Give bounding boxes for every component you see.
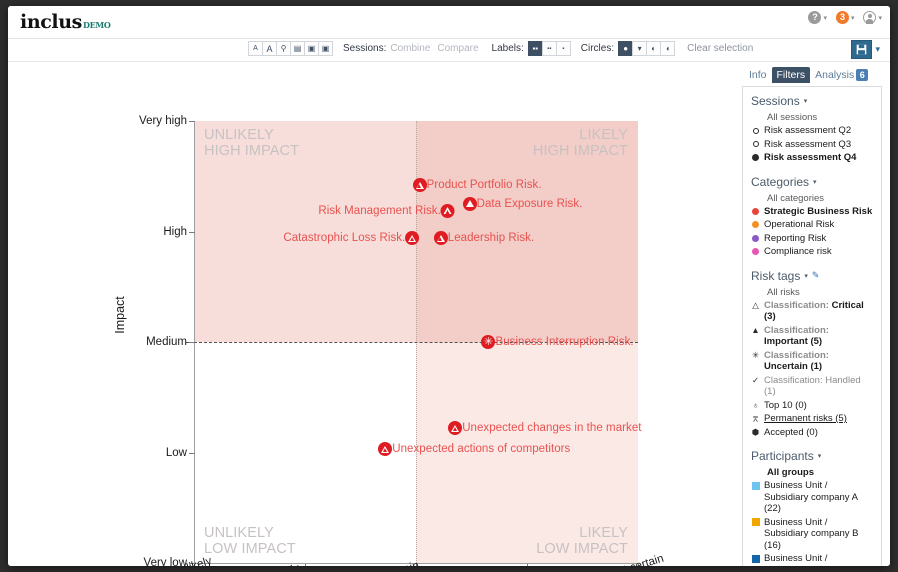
categories-section-header[interactable]: Categories ▾ [751,175,873,189]
sidebar-item-category[interactable]: Reporting Risk [751,233,873,245]
categories-title: Categories [751,175,809,189]
critical-marker-icon [378,442,392,456]
sidebar-item-session[interactable]: Risk assessment Q2 [751,125,873,137]
sidebar-item-risk-tag[interactable]: ✳Classification: Uncertain (1) [751,350,873,373]
radio-selected-icon [752,154,759,161]
plot-area[interactable]: UNLIKELY HIGH IMPACT LIKELY HIGH IMPACT … [194,121,638,563]
sidebar-item-risk-tag-label: Classification: Critical (3) [764,300,873,323]
critical-marker-icon [413,178,427,192]
sidebar-item-session[interactable]: Risk assessment Q4 [751,152,873,164]
sidebar-item-participant-label: Business Unit / Subsidiary company C (13… [764,553,873,566]
risk-point-label: Product Portfolio Risk. [427,179,542,191]
y-tick-label: Low [166,447,187,459]
sidebar-item-participant[interactable]: Business Unit / Subsidiary company B (16… [751,517,873,552]
x-tick-label: Unlikely [259,562,301,566]
app-header: inclus DEMO ? ▾ 3 ▾ ▾ [8,6,890,39]
screenshot-root: inclus DEMO ? ▾ 3 ▾ ▾ A A ⚲ ▤ ▣ ▣ [0,0,898,572]
all-categories-option[interactable]: All categories [767,193,873,204]
save-controls: ▾ [851,40,880,59]
labels-label: Labels: [492,43,524,54]
sidebar-item-risk-tag-label: Classification: Handled (1) [764,375,873,398]
star-glyph: ✳ [484,336,493,347]
chevron-down-icon: ▾ [823,14,827,22]
triangle-outline-glyph [437,235,445,242]
x-tick-label: Likely [481,565,513,566]
sidebar-item-session-label: Risk assessment Q3 [764,139,873,151]
chevron-down-icon: ▾ [804,97,808,105]
combine-button[interactable]: Combine [390,43,430,54]
sidebar-item-risk-tag-label: Classification: Important (5) [764,325,873,348]
save-chevron-down-icon[interactable]: ▾ [875,44,880,55]
sidebar-item-risk-tag[interactable]: ▲Classification: Important (5) [751,325,873,348]
risk-tag-glyph-icon: ✳ [752,351,759,360]
pencil-icon[interactable]: ✎ [812,270,820,281]
risk-point-label: Business Interruption Risk. [495,336,633,348]
header-actions: ? ▾ 3 ▾ ▾ [808,11,882,24]
participant-color-square-icon [752,482,760,490]
y-tick-label: Medium [146,336,187,348]
triangle-outline-glyph [416,182,424,189]
x-tick-mark [527,564,528,566]
radio-unselected-icon [753,141,759,147]
y-tick-label: Very high [139,115,187,127]
all-risks-option[interactable]: All risks [767,287,873,298]
chevron-down-icon: ▾ [804,272,808,280]
sidebar-item-category[interactable]: Operational Risk [751,219,873,231]
sidebar-item-category-label: Reporting Risk [764,233,873,245]
all-groups-option[interactable]: All groups [767,467,873,478]
triangle-outline-glyph [444,207,452,214]
risk-point-label: Data Exposure Risk. [477,198,583,210]
risk-tag-glyph-icon: ♁ [752,401,758,410]
sessions-section-header[interactable]: Sessions ▾ [751,94,873,108]
y-tick-mark [189,232,195,233]
participants-section-header[interactable]: Participants ▾ [751,449,873,463]
filters-panel: Sessions ▾ All sessions Risk assessment … [742,86,882,566]
font-increase-icon[interactable]: A [262,41,277,56]
participant-color-square-icon [752,555,760,563]
label-short-icon[interactable]: ▪▪ [542,41,557,56]
risk-point-label: Risk Management Risk. [318,205,440,217]
sidebar-item-risk-tag-label: Top 10 (0) [764,400,873,412]
sidebar-item-participant-label: Business Unit / Subsidiary company A (22… [764,480,873,515]
tab-analysis[interactable]: Analysis6 [810,67,873,83]
app-window: inclus DEMO ? ▾ 3 ▾ ▾ A A ⚲ ▤ ▣ ▣ [8,6,890,566]
sidebar-item-risk-tag-label: Accepted (0) [764,427,873,439]
y-tick-label: High [163,226,187,238]
risk-point-label: Leadership Risk. [448,232,534,244]
chart-bars-icon[interactable]: ▤ [290,41,305,56]
risk-point-label: Catastrophic Loss Risk. [283,232,405,244]
quadrant-label-likely-low-impact: LIKELY LOW IMPACT [536,526,628,557]
risk-point[interactable]: Risk Management Risk. [318,204,454,218]
y-axis-title: Impact [113,296,127,334]
save-disk-icon[interactable] [851,40,872,59]
sidebar-item-participant-label: Business Unit / Subsidiary company B (16… [764,517,873,552]
participants-list: Business Unit / Subsidiary company A (22… [751,480,873,566]
sidebar-item-risk-tag[interactable]: ⩞Permanent risks (5) [751,413,873,425]
sidebar-item-participant[interactable]: Business Unit / Subsidiary company A (22… [751,480,873,515]
chevron-down-icon: ▾ [851,14,855,22]
quadrant-label-likely-high-impact: LIKELY HIGH IMPACT [533,128,628,159]
chart-toolbar: A A ⚲ ▤ ▣ ▣ Sessions: Combine Compare La… [8,39,890,62]
risk-point[interactable]: ✳Business Interruption Risk. [481,335,633,349]
important-marker-icon [463,197,477,211]
help-menu[interactable]: ? ▾ [808,11,827,24]
sidebar-item-session[interactable]: Risk assessment Q3 [751,139,873,151]
document-icon[interactable]: ▣ [304,41,319,56]
sidebar-tabs: Info Filters Analysis6 [742,66,882,83]
triangle-outline-glyph [381,446,389,453]
sessions-label: Sessions: [343,43,386,54]
sessions-list: Risk assessment Q2Risk assessment Q3Risk… [751,125,873,164]
category-color-dot-icon [752,221,759,228]
category-color-dot-icon [752,208,759,215]
critical-marker-icon [441,204,455,218]
y-tick-mark [189,453,195,454]
logo-demo-tag: DEMO [83,20,111,30]
uncertain-marker-icon: ✳ [481,335,495,349]
sidebar-item-risk-tag[interactable]: ♁Top 10 (0) [751,400,873,412]
notification-badge: 3 [836,11,849,24]
tab-info-label: Info [749,69,767,81]
tab-filters[interactable]: Filters [772,67,811,83]
circle-mode-2-icon[interactable]: ▾ [632,41,647,56]
risk-point[interactable]: Data Exposure Risk. [463,197,583,211]
tab-filters-label: Filters [777,69,806,81]
app-body: UNLIKELY HIGH IMPACT LIKELY HIGH IMPACT … [8,62,890,566]
question-circle-icon: ? [808,11,821,24]
sidebar-item-participant[interactable]: Business Unit / Subsidiary company C (13… [751,553,873,566]
chevron-down-icon: ▾ [813,178,817,186]
sidebar-item-category-label: Compliance risk [764,246,873,258]
risk-tags-title: Risk tags [751,269,800,283]
risk-tag-glyph-icon: ✓ [752,376,759,385]
chevron-down-icon: ▾ [818,452,822,460]
sessions-title: Sessions [751,94,800,108]
risk-tag-glyph-icon: △ [752,301,759,310]
category-color-dot-icon [752,235,759,242]
critical-marker-icon [434,231,448,245]
clear-selection-button[interactable]: Clear selection [687,43,753,54]
logo-text: inclus [20,11,82,33]
compare-button[interactable]: Compare [437,43,478,54]
risk-point[interactable]: Product Portfolio Risk. [413,178,542,192]
font-decrease-icon[interactable]: A [248,41,263,56]
risk-point[interactable]: Unexpected actions of competitors [378,442,570,456]
x-tick-mark [305,564,306,566]
triangle-outline-glyph [408,235,416,242]
triangle-outline-glyph [451,425,459,432]
y-axis: Very lowLowMediumHighVery high [194,121,195,563]
circle-mode-3-icon[interactable]: ◐ [646,41,661,56]
label-full-icon[interactable]: ▪▪ [528,41,543,56]
risk-tag-glyph-icon: ⬢ [752,428,759,437]
report-icon[interactable]: ▣ [318,41,333,56]
tab-info[interactable]: Info [744,67,772,83]
radio-unselected-icon [753,128,759,134]
sidebar-item-risk-tag[interactable]: ⬢Accepted (0) [751,427,873,439]
toolbar-controls: A A ⚲ ▤ ▣ ▣ Sessions: Combine Compare La… [248,41,753,56]
all-sessions-option[interactable]: All sessions [767,112,873,123]
y-tick-mark [189,342,195,343]
quadrant-label-unlikely-high-impact: UNLIKELY HIGH IMPACT [204,128,299,159]
sidebar-item-risk-tag[interactable]: △Classification: Critical (3) [751,300,873,323]
sidebar-item-session-label: Risk assessment Q4 [764,152,873,164]
risk-matrix-chart: UNLIKELY HIGH IMPACT LIKELY HIGH IMPACT … [8,62,724,566]
notifications-menu[interactable]: 3 ▾ [836,11,855,24]
risk-tags-section-header[interactable]: Risk tags ▾ ✎ [751,269,873,283]
y-tick-mark [189,121,195,122]
risk-point[interactable]: Catastrophic Loss Risk. [283,231,419,245]
risk-point-label: Unexpected changes in the market [462,422,641,434]
analysis-badge: 6 [856,69,868,81]
brand-logo[interactable]: inclus DEMO [20,11,111,33]
sidebar-item-category-label: Strategic Business Risk [764,206,873,218]
filters-sidebar: Info Filters Analysis6 Sessions ▾ All se… [742,66,882,566]
participants-title: Participants [751,449,814,463]
sidebar-item-risk-tag-label: Classification: Uncertain (1) [764,350,873,373]
sidebar-item-risk-tag-label: Permanent risks (5) [764,413,873,425]
category-color-dot-icon [752,248,759,255]
risk-point[interactable]: Unexpected changes in the market [448,421,641,435]
x-axis: Very unlikelyUnlikelyUncertainLikelyAlmo… [194,563,638,564]
sidebar-item-category[interactable]: Strategic Business Risk [751,206,873,218]
user-menu[interactable]: ▾ [863,11,882,24]
label-none-icon[interactable]: ▪ [556,41,571,56]
participant-color-square-icon [752,518,760,526]
circle-mode-4-icon[interactable]: ◖ [660,41,675,56]
risk-point[interactable]: Leadership Risk. [434,231,534,245]
sidebar-item-session-label: Risk assessment Q2 [764,125,873,137]
critical-marker-icon [448,421,462,435]
risk-tag-glyph-icon: ⩞ [753,415,758,424]
chevron-down-icon: ▾ [878,14,882,22]
critical-marker-icon [405,231,419,245]
categories-list: Strategic Business RiskOperational RiskR… [751,206,873,258]
sidebar-item-risk-tag[interactable]: ✓Classification: Handled (1) [751,375,873,398]
save-disk-glyph [856,44,867,55]
zoom-icon[interactable]: ⚲ [276,41,291,56]
tab-analysis-label: Analysis [815,69,854,81]
circle-mode-1-icon[interactable]: ● [618,41,633,56]
triangle-fill-glyph [466,200,474,207]
risk-tag-glyph-icon: ▲ [751,326,759,335]
risk-tags-list: △Classification: Critical (3)▲Classifica… [751,300,873,439]
circles-label: Circles: [581,43,614,54]
risk-point-label: Unexpected actions of competitors [392,443,570,455]
user-avatar-icon [863,11,876,24]
sidebar-item-category[interactable]: Compliance risk [751,246,873,258]
sidebar-item-category-label: Operational Risk [764,219,873,231]
quadrant-label-unlikely-low-impact: UNLIKELY LOW IMPACT [204,526,296,557]
